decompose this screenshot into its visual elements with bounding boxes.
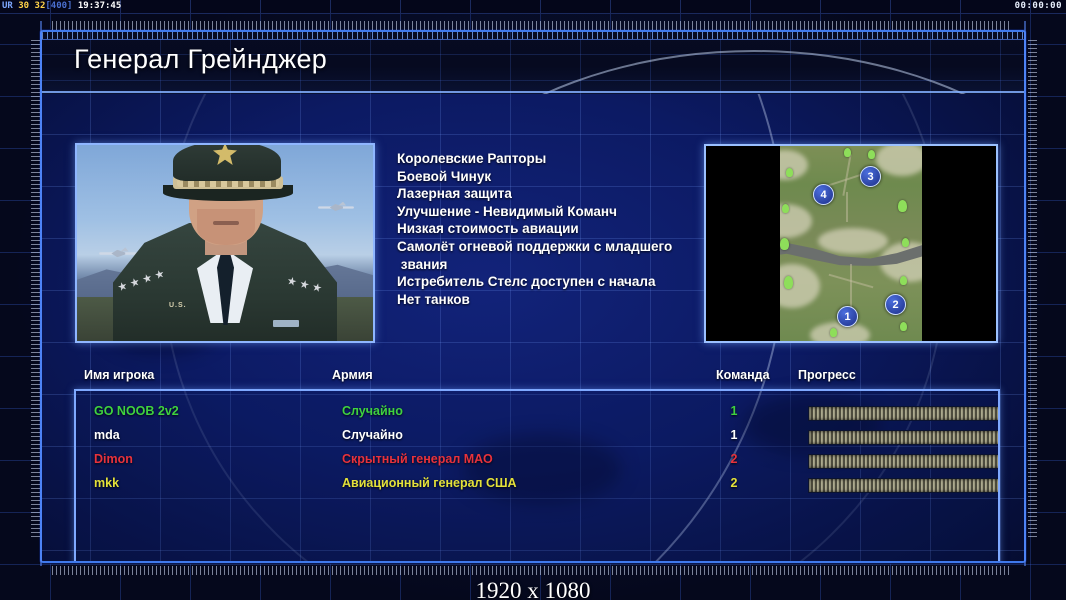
ruler-left — [31, 40, 40, 540]
window-header: Генерал Грейнджер — [42, 32, 1024, 94]
column-header-army: Армия — [332, 368, 373, 382]
column-header-player: Имя игрока — [84, 368, 154, 382]
table-row[interactable]: Dimon Скрытный генерал МАО 2 — [76, 449, 998, 473]
map-start-position-1[interactable]: 1 — [837, 306, 858, 327]
player-team: 2 — [726, 452, 742, 466]
map-terrain: 1 2 3 4 — [780, 146, 922, 341]
player-team: 2 — [726, 476, 742, 490]
map-start-position-4[interactable]: 4 — [813, 184, 834, 205]
player-army: Случайно — [342, 428, 403, 442]
feature-item: Самолёт огневой поддержки с младшего — [397, 238, 697, 256]
service-ribbon — [273, 320, 299, 327]
feature-item: Улучшение - Невидимый Команч — [397, 203, 697, 221]
feature-item: Нет танков — [397, 291, 697, 309]
frame-edge-right — [1024, 21, 1026, 566]
fps-value: 30 — [18, 1, 29, 11]
ruler-right — [1028, 40, 1037, 540]
feature-item: Низкая стоимость авиации — [397, 220, 697, 238]
feature-item: Королевские Рапторы — [397, 150, 697, 168]
fps-prefix: UR — [2, 1, 13, 11]
header-rule-1 — [42, 39, 1024, 40]
portrait-jaw — [197, 209, 255, 245]
resolution-label: 1920 x 1080 — [0, 578, 1066, 600]
map-start-position-3[interactable]: 3 — [860, 166, 881, 187]
feature-item: Истребитель Стелс доступен с начала — [397, 273, 697, 291]
feature-item: Боевой Чинук — [397, 168, 697, 186]
fps-value-2: 32 — [35, 1, 46, 11]
player-table-header: Имя игрока Армия Команда Прогресс — [84, 368, 984, 390]
player-army: Авиационный генерал США — [342, 476, 517, 490]
jet-icon — [99, 250, 137, 257]
fps-counter: UR 30 32[400] 19:37:45 — [2, 0, 121, 13]
column-header-progress: Прогресс — [798, 368, 856, 382]
progress-bar — [808, 478, 1000, 493]
player-name: mda — [94, 428, 120, 442]
window-body: U.S. Королевские Рапторы Боевой Чинук Ла… — [42, 94, 1024, 563]
player-army: Случайно — [342, 404, 403, 418]
player-name: mkk — [94, 476, 119, 490]
player-table: GO NOOB 2v2 Случайно 1 mda Случайно 1 Di… — [74, 389, 1000, 563]
progress-bar — [808, 454, 1000, 469]
portrait-mouth — [213, 221, 239, 225]
general-features-list: Королевские Рапторы Боевой Чинук Лазерна… — [397, 150, 697, 308]
frame-edge-left — [40, 21, 42, 566]
player-army: Скрытный генерал МАО — [342, 452, 493, 466]
column-header-team: Команда — [716, 368, 770, 382]
map-preview: 1 2 3 4 — [704, 144, 998, 343]
table-row[interactable]: mda Случайно 1 — [76, 425, 998, 449]
player-name: Dimon — [94, 452, 133, 466]
topbar-grid — [0, 0, 1066, 13]
feature-item: Лазерная защита — [397, 185, 697, 203]
player-team: 1 — [726, 428, 742, 442]
map-start-position-2[interactable]: 2 — [885, 294, 906, 315]
player-team: 1 — [726, 404, 742, 418]
table-row[interactable]: GO NOOB 2v2 Случайно 1 — [76, 401, 998, 425]
feature-item: звания — [397, 256, 697, 274]
session-time: 19:37:45 — [78, 1, 121, 11]
header-rule-2 — [42, 91, 1024, 93]
us-insignia: U.S. — [169, 302, 187, 309]
player-name: GO NOOB 2v2 — [94, 404, 179, 418]
progress-bar — [808, 406, 1000, 421]
game-clock: 00:00:00 — [1015, 0, 1062, 13]
general-portrait: U.S. — [75, 143, 375, 343]
fps-bracket: [400] — [45, 1, 72, 11]
header-tick-strip — [42, 32, 1024, 39]
ruler-bottom — [52, 566, 1012, 575]
progress-bar — [808, 430, 1000, 445]
jet-icon — [318, 204, 354, 211]
table-row[interactable]: mkk Авиационный генерал США 2 — [76, 473, 998, 497]
page-title: Генерал Грейнджер — [74, 44, 327, 75]
general-info-window: Генерал Грейнджер — [40, 30, 1026, 563]
ruler-top — [52, 21, 1012, 30]
screen-root: UR 30 32[400] 19:37:45 00:00:00 Генерал … — [0, 0, 1066, 600]
top-status-bar: UR 30 32[400] 19:37:45 00:00:00 — [0, 0, 1066, 14]
